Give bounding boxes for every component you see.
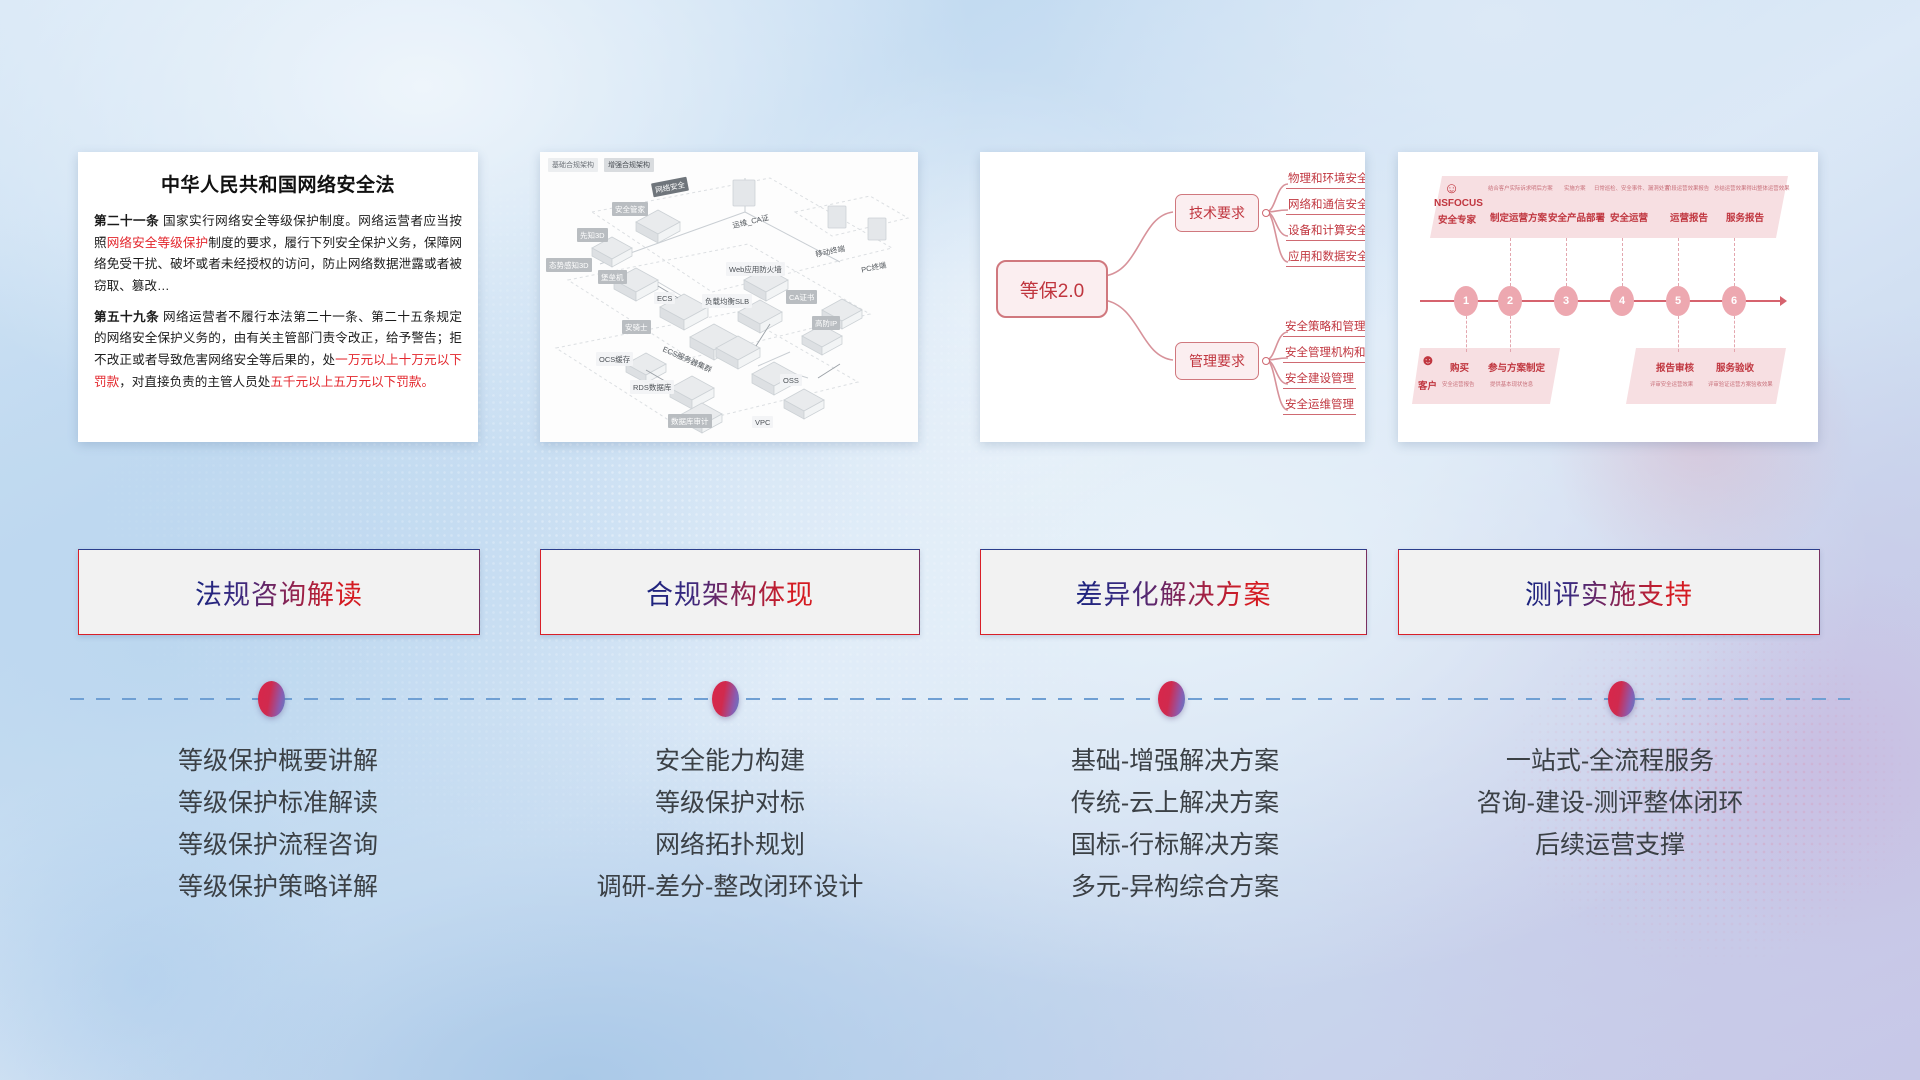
vendor-person-icon: ☺ (1444, 180, 1459, 197)
timeline-bottom-sub-2: 提供基本现状信息 (1490, 380, 1533, 388)
timeline-dash-6 (1734, 238, 1735, 286)
mindmap-leaf-mgmt-3: 安全建设管理 (1283, 370, 1356, 389)
feature-list-column-4: 一站式-全流程服务 咨询-建设-测评整体闭环 后续运营支撑 (1395, 740, 1825, 866)
timeline-step-3[interactable]: 3 (1554, 286, 1578, 316)
customer-role: 客户 (1418, 378, 1437, 392)
mindmap-root-node[interactable]: 等保2.0 (996, 260, 1108, 318)
architecture-label-oss: OSS (780, 374, 802, 386)
timeline-dash-b2 (1510, 316, 1511, 352)
law-run-2-2: ，对直接负责的主管人员处 (119, 375, 270, 389)
list-item: 后续运营支撑 (1395, 824, 1825, 866)
architecture-label-高防ip: 高防IP (812, 316, 840, 330)
service-timeline-canvas: ☺ NSFOCUS 安全专家 结合客户实际诉求明后方案 制定运营方案 实施方案 … (1398, 152, 1818, 442)
headline-box-regulation-consulting[interactable]: 法规咨询解读 (78, 549, 480, 635)
mindmap-leaf-mgmt-2: 安全管理机构和人员 (1283, 344, 1365, 363)
mindmap-branch-management[interactable]: 管理要求 (1175, 342, 1259, 380)
card-service-timeline[interactable]: ☺ NSFOCUS 安全专家 结合客户实际诉求明后方案 制定运营方案 实施方案 … (1398, 152, 1818, 442)
timeline-dash-2 (1510, 238, 1511, 286)
customer-person-icon: ☻ (1420, 352, 1436, 369)
timeline-bottom-title-4: 服务验收 (1716, 360, 1754, 374)
mindmap-leaf-tech-3: 设备和计算安全 (1286, 222, 1365, 241)
architecture-label-数据库审计: 数据库审计 (668, 414, 712, 428)
list-item: 国标-行标解决方案 (960, 824, 1390, 866)
vendor-name: NSFOCUS (1434, 198, 1483, 209)
architecture-label-vpc: VPC (752, 416, 773, 428)
timeline-step-2[interactable]: 2 (1498, 286, 1522, 316)
timeline-dash-3 (1566, 238, 1567, 286)
headline-box-compliance-architecture[interactable]: 合规架构体现 (540, 549, 920, 635)
card-row: 中华人民共和国网络安全法 第二十一条 国家实行网络安全等级保护制度。网络运营者应… (0, 152, 1920, 452)
architecture-canvas: 基础合规架构 增强合规架构 (540, 152, 918, 442)
mindmap-leaf-tech-4: 应用和数据安全 (1286, 248, 1365, 267)
timeline-dash-5 (1678, 238, 1679, 286)
architecture-label-ecs: ECS (654, 292, 675, 304)
timeline-bottom-title-1: 购买 (1450, 360, 1469, 374)
timeline-step-5[interactable]: 5 (1666, 286, 1690, 316)
timeline-top-title-1: 制定运营方案 (1490, 210, 1547, 224)
list-item: 等级保护流程咨询 (78, 824, 478, 866)
mindmap-branch-technical[interactable]: 技术要求 (1175, 194, 1259, 232)
timeline-top-sub-5: 总结运营效果得出整体运营效果 (1714, 184, 1789, 192)
headline-box-label-4: 测评实施支持 (1525, 573, 1693, 612)
timeline-dash-b1 (1466, 316, 1467, 352)
list-item: 传统-云上解决方案 (960, 782, 1390, 824)
timeline-bottom-sub-3: 评审安全运营效果 (1650, 380, 1693, 388)
vendor-role: 安全专家 (1438, 212, 1476, 226)
law-run-1-1-highlight: 网络安全等级保护 (107, 236, 209, 250)
list-item: 咨询-建设-测评整体闭环 (1395, 782, 1825, 824)
list-item: 基础-增强解决方案 (960, 740, 1390, 782)
timeline-bottom-title-3: 报告审核 (1656, 360, 1694, 374)
timeline-top-title-2: 安全产品部署 (1548, 210, 1605, 224)
list-item: 等级保护对标 (515, 782, 945, 824)
list-item: 调研-差分-整改闭环设计 (515, 866, 945, 908)
architecture-label-安骑士: 安骑士 (622, 320, 651, 334)
architecture-label-ca证书: CA证书 (786, 290, 817, 304)
mindmap-leaf-mgmt-4: 安全运维管理 (1283, 396, 1356, 415)
timeline-step-1[interactable]: 1 (1454, 286, 1478, 316)
architecture-label-ocs缓存: OCS缓存 (596, 352, 633, 366)
timeline-step-6[interactable]: 6 (1722, 286, 1746, 316)
timeline-dash-b4 (1734, 316, 1735, 352)
timeline-top-sub-2: 实施方案 (1564, 184, 1586, 192)
law-article-label-2: 第五十九条 (94, 310, 159, 324)
mindmap-collapse-dot-management[interactable] (1262, 357, 1270, 365)
timeline-bottom-title-2: 参与方案制定 (1488, 360, 1545, 374)
mindmap-collapse-dot-technical[interactable] (1262, 209, 1270, 217)
connector-dot-3 (1158, 681, 1185, 717)
architecture-label-先知3D: 先知3D (577, 228, 608, 242)
timeline-top-sub-3: 日常巡检、安全事件、漏洞处置 (1594, 184, 1669, 192)
law-paragraph-2: 第五十九条 网络运营者不履行本法第二十一条、第二十五条规定的网络安全保护义务的，… (94, 307, 462, 394)
architecture-label-安全管家: 安全管家 (612, 202, 648, 216)
connector-dot-1 (258, 681, 285, 717)
list-item: 一站式-全流程服务 (1395, 740, 1825, 782)
law-paragraph-1: 第二十一条 国家实行网络安全等级保护制度。网络运营者应当按照网络安全等级保护制度… (94, 211, 462, 298)
timeline-step-4[interactable]: 4 (1610, 286, 1634, 316)
card-law-document[interactable]: 中华人民共和国网络安全法 第二十一条 国家实行网络安全等级保护制度。网络运营者应… (78, 152, 478, 442)
timeline-dash-4 (1622, 238, 1623, 286)
architecture-label-态势感知3D: 态势感知3D (546, 258, 592, 272)
timeline-top-sub-4: 阶段运营效果报告 (1666, 184, 1709, 192)
headline-box-label-3: 差异化解决方案 (1076, 573, 1272, 612)
timeline-top-title-3: 安全运营 (1610, 210, 1648, 224)
headline-box-differentiated-solution[interactable]: 差异化解决方案 (980, 549, 1367, 635)
mindmap-canvas: 等保2.0 技术要求 管理要求 物理和环境安全 网络和通信安全 设备和计算安全 … (980, 152, 1365, 442)
card-architecture-diagram[interactable]: 基础合规架构 增强合规架构 (540, 152, 918, 442)
timeline-top-title-5: 服务报告 (1726, 210, 1764, 224)
list-item: 安全能力构建 (515, 740, 945, 782)
mindmap-leaf-tech-2: 网络和通信安全 (1286, 196, 1365, 215)
feature-list-column-1: 等级保护概要讲解 等级保护标准解读 等级保护流程咨询 等级保护策略详解 (78, 740, 478, 908)
connector-dot-2 (712, 681, 739, 717)
feature-list-column-3: 基础-增强解决方案 传统-云上解决方案 国标-行标解决方案 多元-异构综合方案 (960, 740, 1390, 908)
timeline-dash-b3 (1678, 316, 1679, 352)
timeline-bottom-sub-4: 评审验证运营方案验收效果 (1708, 380, 1773, 388)
list-item: 等级保护策略详解 (78, 866, 478, 908)
law-title: 中华人民共和国网络安全法 (94, 170, 462, 197)
architecture-label-rds数据库: RDS数据库 (630, 380, 674, 394)
connector-dashed-line (70, 698, 1850, 700)
architecture-label-web应用防火墙: Web应用防火墙 (726, 262, 785, 276)
connector-dot-4 (1608, 681, 1635, 717)
architecture-label-堡垒机: 堡垒机 (598, 270, 627, 284)
timeline-customer-band-right (1626, 348, 1786, 404)
list-item: 等级保护标准解读 (78, 782, 478, 824)
law-document-body: 中华人民共和国网络安全法 第二十一条 国家实行网络安全等级保护制度。网络运营者应… (78, 152, 478, 442)
mindmap-leaf-tech-1: 物理和环境安全 (1286, 170, 1365, 189)
law-run-2-3-highlight: 五千元以上五万元以下罚款。 (270, 375, 434, 389)
timeline-arrow-icon (1780, 296, 1787, 306)
headline-box-label-1: 法规咨询解读 (195, 573, 363, 612)
headline-box-evaluation-support[interactable]: 测评实施支持 (1398, 549, 1820, 635)
feature-list-row: 等级保护概要讲解 等级保护标准解读 等级保护流程咨询 等级保护策略详解 安全能力… (0, 740, 1920, 960)
slide-stage: 中华人民共和国网络安全法 第二十一条 国家实行网络安全等级保护制度。网络运营者应… (0, 0, 1920, 1080)
timeline-bottom-sub-1: 安全运营报告 (1442, 380, 1474, 388)
headline-box-row: 法规咨询解读 合规架构体现 差异化解决方案 测评实施支持 (0, 549, 1920, 633)
feature-list-column-2: 安全能力构建 等级保护对标 网络拓扑规划 调研-差分-整改闭环设计 (515, 740, 945, 908)
headline-box-label-2: 合规架构体现 (646, 573, 814, 612)
timeline-top-sub-1: 结合客户实际诉求明后方案 (1488, 184, 1553, 192)
list-item: 网络拓扑规划 (515, 824, 945, 866)
timeline-top-title-4: 运营报告 (1670, 210, 1708, 224)
mindmap-leaf-mgmt-1: 安全策略和管理制度 (1283, 318, 1365, 337)
law-article-label-1: 第二十一条 (94, 214, 159, 228)
list-item: 等级保护概要讲解 (78, 740, 478, 782)
list-item: 多元-异构综合方案 (960, 866, 1390, 908)
card-mindmap[interactable]: 等保2.0 技术要求 管理要求 物理和环境安全 网络和通信安全 设备和计算安全 … (980, 152, 1365, 442)
architecture-label-负载均衡slb: 负载均衡SLB (702, 294, 752, 308)
